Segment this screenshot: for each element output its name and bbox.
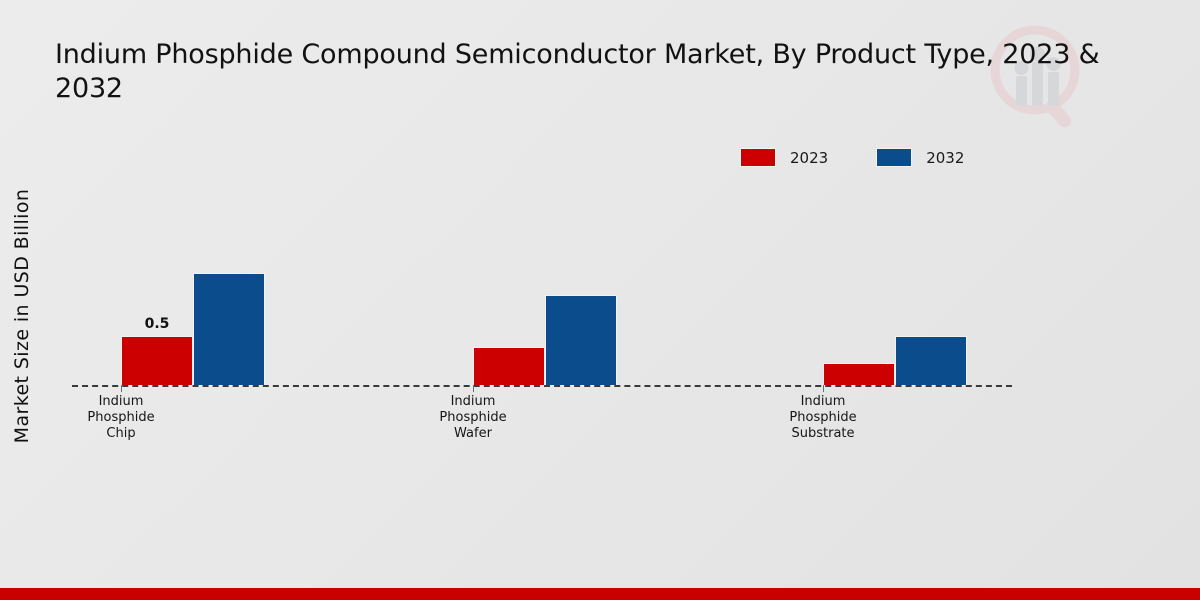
chart-page: Indium Phosphide Compound Semiconductor … (0, 0, 1200, 600)
x-axis-tick (473, 385, 474, 392)
x-axis-category-label: Indium Phosphide Chip (26, 394, 216, 442)
x-axis-tick (121, 385, 122, 392)
legend-label: 2032 (926, 149, 964, 167)
plot-area: 0.5 (72, 180, 1012, 386)
bar-2032-1[interactable] (545, 295, 617, 386)
bar-group (823, 181, 967, 386)
legend-item-2032[interactable]: 2032 (876, 148, 964, 167)
bar-2023-1[interactable] (473, 347, 545, 386)
x-axis-baseline (72, 385, 1012, 387)
legend-swatch-icon (740, 148, 776, 167)
legend-item-2023[interactable]: 2023 (740, 148, 828, 167)
chart-legend: 2023 2032 (740, 148, 964, 167)
bar-group: 0.5 (121, 181, 265, 386)
footer-accent-bar (0, 588, 1200, 600)
bar-group (473, 181, 617, 386)
bar-2032-0[interactable] (193, 273, 265, 386)
bar-value-label: 0.5 (121, 316, 193, 332)
chart-title: Indium Phosphide Compound Semiconductor … (55, 38, 1200, 106)
x-axis-category-label: Indium Phosphide Wafer (378, 394, 568, 442)
x-axis-category-label: Indium Phosphide Substrate (728, 394, 918, 442)
bar-2023-2[interactable] (823, 363, 895, 386)
bar-2032-2[interactable] (895, 336, 967, 386)
x-axis-tick (823, 385, 824, 392)
legend-swatch-icon (876, 148, 912, 167)
legend-label: 2023 (790, 149, 828, 167)
bar-2023-0[interactable] (121, 336, 193, 386)
